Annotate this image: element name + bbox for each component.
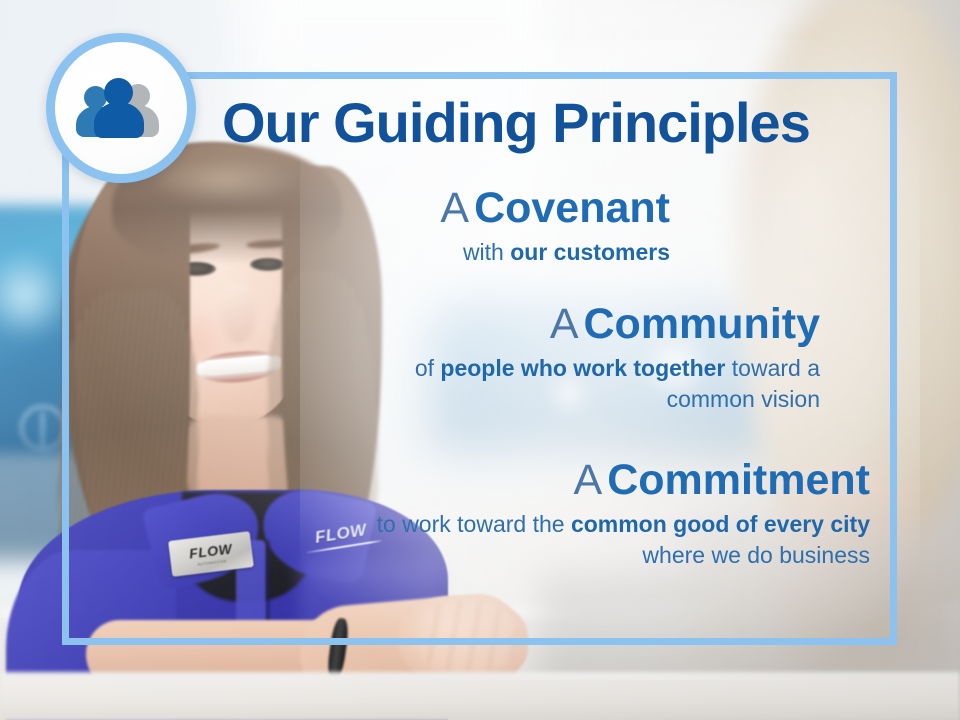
photo-desk-foreground (0, 672, 960, 720)
people-group-badge (46, 33, 196, 183)
principle-1-article: A (440, 184, 469, 232)
people-group-icon (78, 78, 164, 138)
principle-community: ACommunity of people who work together t… (330, 302, 820, 415)
page-title: Our Guiding Principles (222, 95, 862, 151)
principle-3-body: to work toward the common good of every … (370, 509, 870, 571)
principle-2-body: of people who work together toward a com… (330, 353, 820, 415)
principle-3-article: A (574, 456, 603, 504)
principle-1-word: Covenant (474, 184, 670, 232)
principle-1-body: with our customers (300, 237, 670, 268)
guiding-principles-banner: FLOW AUTOMOTIVE FLOW Our Guiding (0, 0, 960, 720)
principle-2-article: A (550, 300, 579, 348)
employee-hair-sheen (150, 156, 300, 204)
principle-2-word: Community (584, 300, 821, 348)
principle-commitment: ACommitment to work toward the common go… (370, 458, 870, 571)
principle-3-title: ACommitment (370, 458, 870, 503)
principle-2-title: ACommunity (330, 302, 820, 347)
principle-1-title: ACovenant (300, 186, 670, 231)
principle-covenant: ACovenant with our customers (300, 186, 670, 268)
employee-fingers (418, 602, 516, 674)
principle-3-word: Commitment (607, 456, 870, 504)
